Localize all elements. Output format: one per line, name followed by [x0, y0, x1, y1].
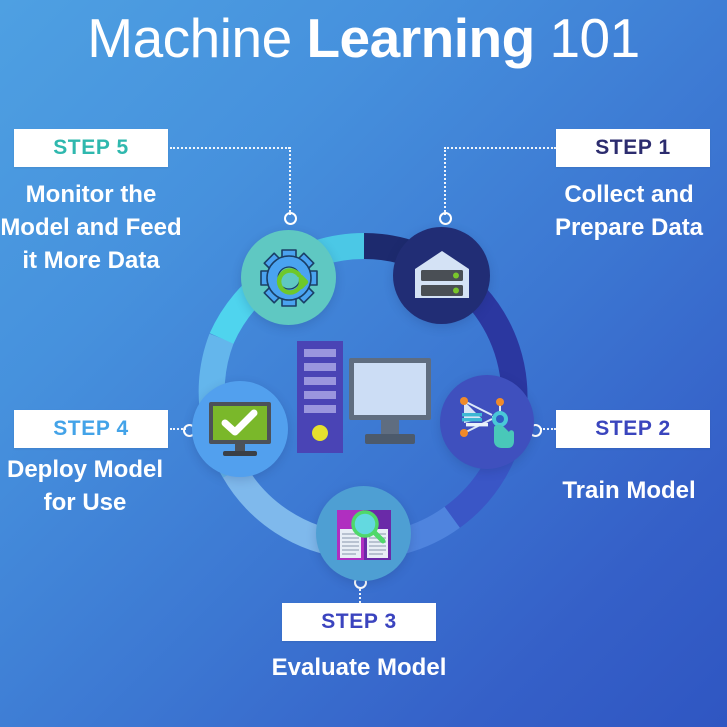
node-step2[interactable] — [440, 375, 534, 469]
connector-step3-vertical — [359, 589, 361, 603]
step-label-box-step5[interactable]: STEP 5 — [14, 129, 168, 167]
step-caption-step4: Deploy Model for Use — [0, 453, 170, 519]
step-caption-step3: Evaluate Model — [267, 651, 451, 684]
infographic-canvas: Machine Learning 101 — [0, 0, 727, 727]
title-word-learning: Learning — [306, 7, 534, 69]
step-label-step1: STEP 1 — [595, 136, 671, 159]
connector-step1-vertical — [444, 147, 446, 215]
step-label-step3: STEP 3 — [321, 610, 397, 633]
step-label-step4: STEP 4 — [53, 417, 129, 440]
node-step4[interactable] — [192, 381, 288, 477]
step-label-step5: STEP 5 — [53, 136, 129, 159]
title-word-101: 101 — [535, 7, 640, 69]
step-label-box-step4[interactable]: STEP 4 — [14, 410, 168, 448]
page-title: Machine Learning 101 — [0, 6, 727, 70]
connector-step5-vertical — [289, 147, 291, 215]
document-magnifier-icon — [333, 504, 395, 564]
connector-step1-horizontal — [444, 147, 556, 149]
center-computer — [297, 341, 431, 457]
monitor-checkmark-icon — [207, 400, 273, 458]
connector-step5-horizontal — [170, 147, 290, 149]
step-label-box-step3[interactable]: STEP 3 — [282, 603, 436, 641]
node-step5[interactable] — [241, 230, 336, 325]
gear-refresh-icon — [258, 247, 320, 309]
step-caption-step5: Monitor the Model and Feed it More Data — [0, 178, 182, 277]
node-step1[interactable] — [393, 227, 490, 324]
node-step3[interactable] — [316, 486, 411, 581]
step-caption-step1: Collect and Prepare Data — [538, 178, 720, 244]
step-caption-step2: Train Model — [538, 474, 720, 507]
database-server-icon — [411, 248, 473, 304]
neural-network-hand-icon — [456, 393, 518, 451]
step-label-box-step2[interactable]: STEP 2 — [556, 410, 710, 448]
desktop-computer-icon — [297, 341, 431, 457]
step-label-step2: STEP 2 — [595, 417, 671, 440]
step-label-box-step1[interactable]: STEP 1 — [556, 129, 710, 167]
title-word-machine: Machine — [87, 7, 306, 69]
